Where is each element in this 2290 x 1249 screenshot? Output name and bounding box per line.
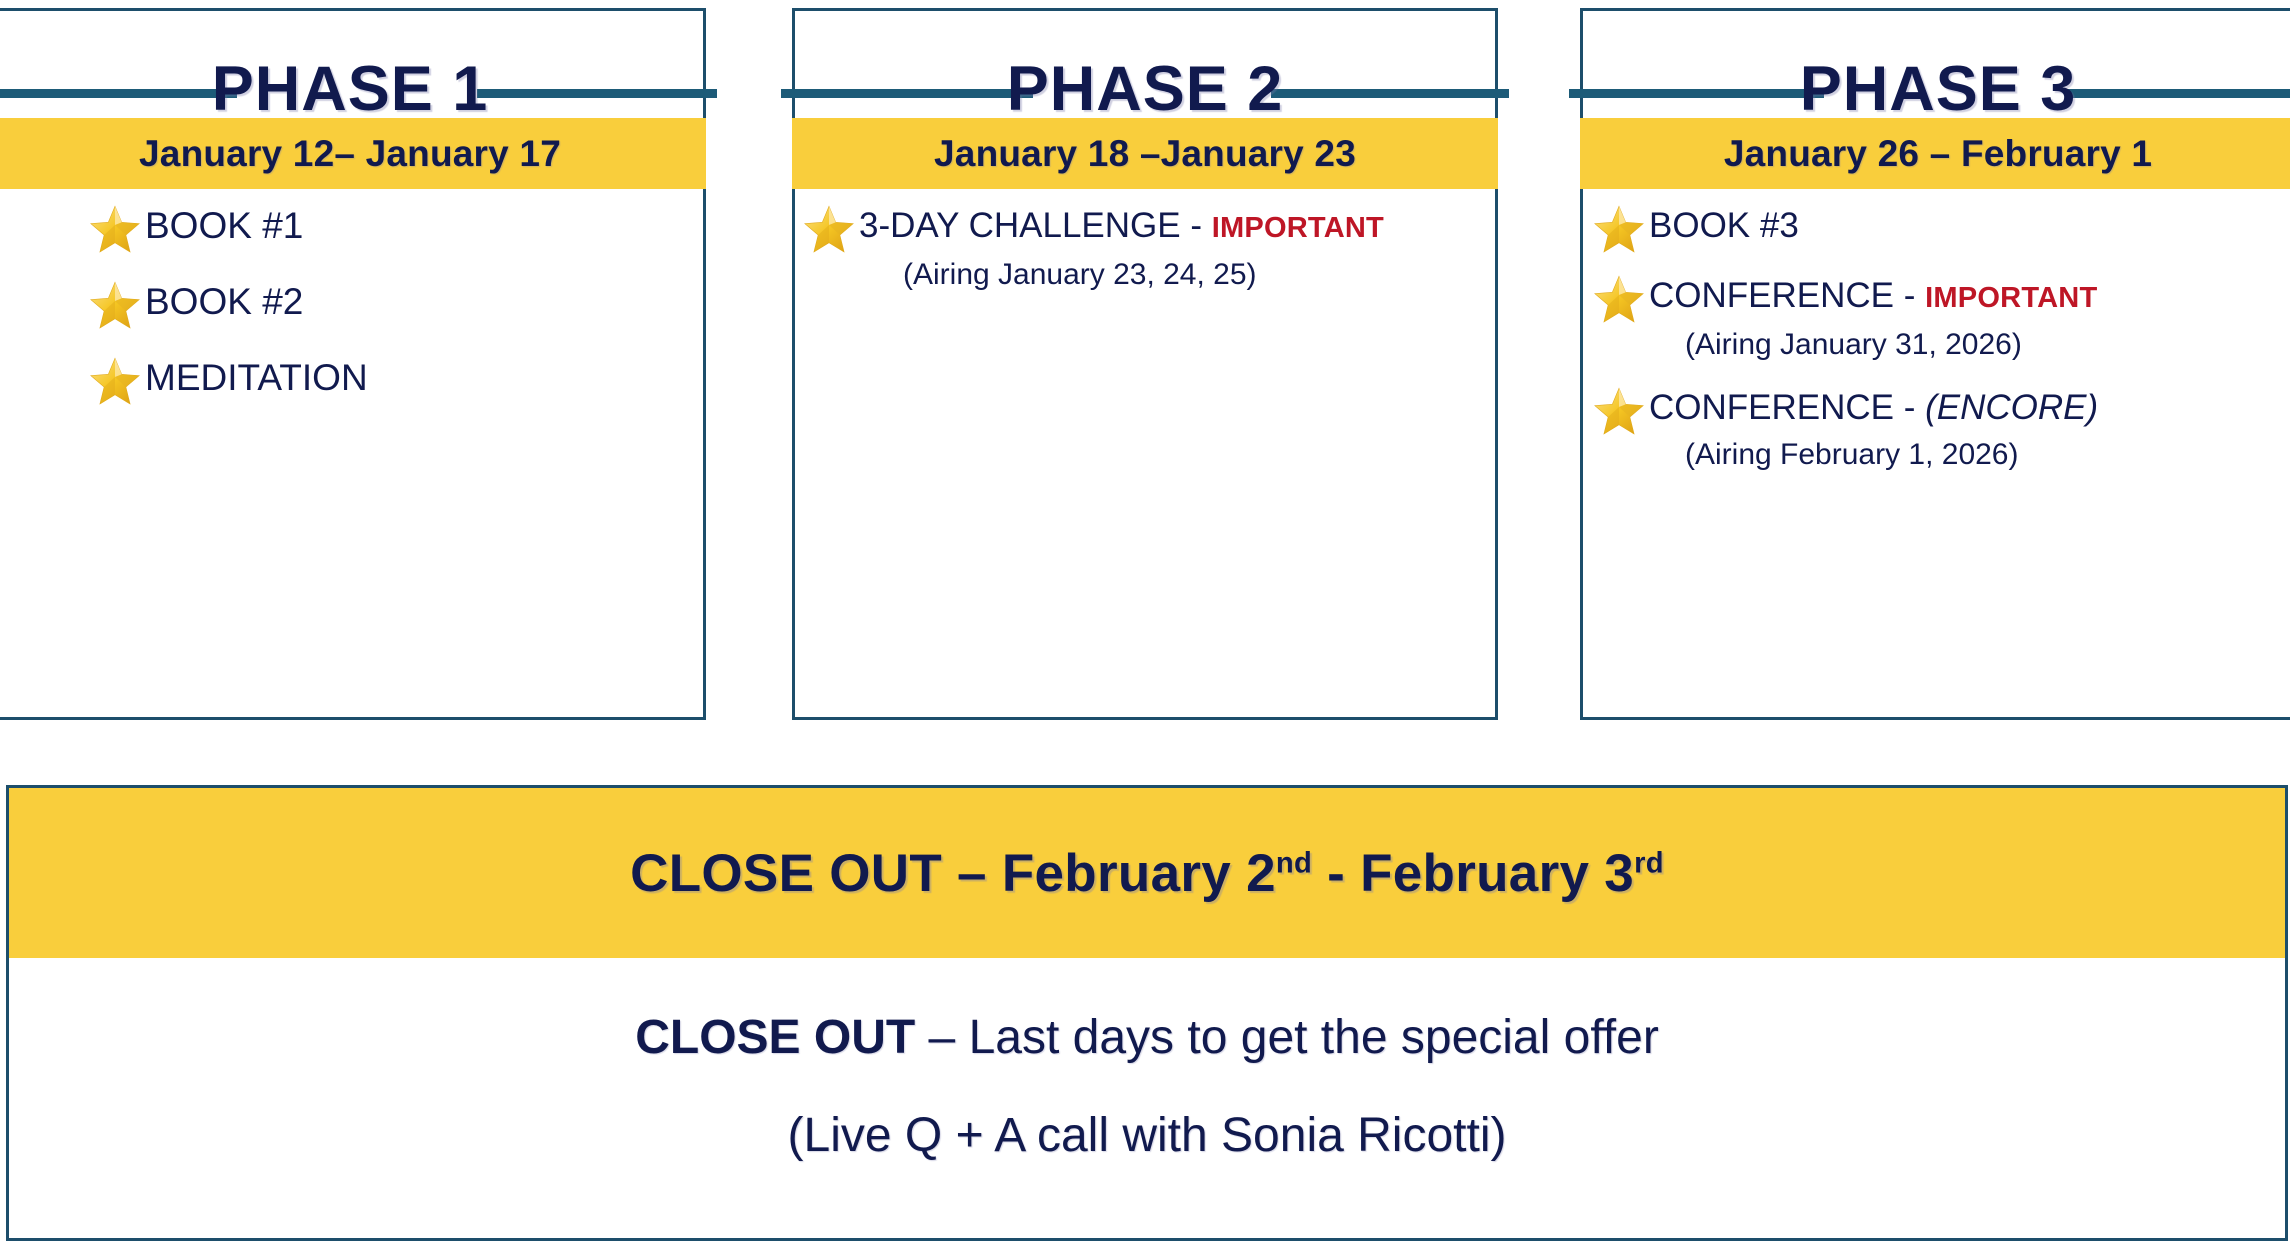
list-item-body: BOOK #1	[145, 201, 703, 251]
closeout-body: CLOSE OUT – Last days to get the special…	[9, 958, 2285, 1238]
list-item-body: CONFERENCE - IMPORTANT (Airing January 3…	[1649, 271, 2290, 367]
list-item-subtitle: (Airing January 31, 2026)	[1649, 323, 2290, 367]
phase-3-date-band: January 26 – February 1	[1580, 118, 2290, 189]
list-item-title: BOOK #2	[145, 277, 703, 327]
list-item-subtitle: (Airing January 23, 24, 25)	[859, 253, 1495, 297]
closeout-line-1: CLOSE OUT – Last days to get the special…	[635, 1000, 1659, 1076]
phase-2-date-range: January 18 –January 23	[934, 133, 1356, 175]
gold-star-icon	[1593, 273, 1645, 325]
encore-label: (ENCORE)	[1925, 388, 2098, 427]
list-item-title: CONFERENCE - (ENCORE)	[1649, 383, 2290, 433]
list-item-body: BOOK #3	[1649, 201, 2290, 251]
list-item: BOOK #2	[89, 277, 703, 331]
list-item: 3-DAY CHALLENGE - IMPORTANT (Airing Janu…	[803, 201, 1495, 297]
closeout-banner-title: CLOSE OUT – February 2nd - February 3rd	[630, 843, 1664, 904]
list-item-title-text: CONFERENCE -	[1649, 388, 1925, 427]
gold-star-icon	[803, 203, 855, 255]
closeout-line-1-bold: CLOSE OUT	[635, 1011, 915, 1064]
closeout-line-2: (Live Q + A call with Sonia Ricotti)	[788, 1098, 1507, 1174]
list-item-title-text: CONFERENCE -	[1649, 276, 1925, 315]
gold-star-icon	[89, 203, 141, 255]
gold-star-icon	[89, 355, 141, 407]
list-item-body: CONFERENCE - (ENCORE) (Airing February 1…	[1649, 383, 2290, 477]
important-badge: IMPORTANT	[1925, 282, 2097, 314]
list-item-title-text: 3-DAY CHALLENGE -	[859, 206, 1212, 245]
list-item-subtitle: (Airing February 1, 2026)	[1649, 433, 2290, 477]
list-item-title: BOOK #3	[1649, 201, 2290, 251]
phase-card-1: PHASE 1 January 12– January 17	[0, 8, 706, 720]
list-item-title: BOOK #1	[145, 201, 703, 251]
list-item-title: MEDITATION	[145, 353, 703, 403]
phase-3-date-range: January 26 – February 1	[1724, 133, 2152, 175]
phase-1-date-band: January 12– January 17	[0, 118, 706, 189]
list-item-title: CONFERENCE - IMPORTANT	[1649, 271, 2290, 323]
closeout-banner-lead: CLOSE OUT – February 2	[630, 844, 1276, 903]
list-item: BOOK #1	[89, 201, 703, 255]
gold-star-icon	[1593, 203, 1645, 255]
list-item: CONFERENCE - IMPORTANT (Airing January 3…	[1593, 271, 2290, 367]
list-item: BOOK #3	[1593, 201, 2290, 255]
phase-card-2: PHASE 2 January 18 –January 23 3-DAY CHA…	[792, 8, 1498, 720]
phase-2-item-list: 3-DAY CHALLENGE - IMPORTANT (Airing Janu…	[795, 201, 1495, 311]
list-item-body: 3-DAY CHALLENGE - IMPORTANT (Airing Janu…	[859, 201, 1495, 297]
list-item-body: BOOK #2	[145, 277, 703, 327]
closeout-line-1-rest: – Last days to get the special offer	[915, 1011, 1659, 1064]
closeout-banner: CLOSE OUT – February 2nd - February 3rd	[9, 788, 2285, 958]
closeout-banner-sup-1: nd	[1276, 847, 1312, 879]
list-item-body: MEDITATION	[145, 353, 703, 403]
phase-3-item-list: BOOK #3 CONFERENCE - IMPORTANT (Airing J…	[1583, 201, 2290, 493]
list-item-title-text: BOOK #3	[1649, 206, 1799, 245]
phase-2-date-band: January 18 –January 23	[792, 118, 1498, 189]
phase-row: PHASE 1 January 12– January 17	[0, 0, 2290, 725]
phase-card-3: PHASE 3 January 26 – February 1 BOOK #3	[1580, 8, 2290, 720]
closeout-banner-mid: - February 3	[1312, 844, 1634, 903]
gold-star-icon	[1593, 385, 1645, 437]
gold-star-icon	[89, 279, 141, 331]
list-item-title: 3-DAY CHALLENGE - IMPORTANT	[859, 201, 1495, 253]
list-item: CONFERENCE - (ENCORE) (Airing February 1…	[1593, 383, 2290, 477]
important-badge: IMPORTANT	[1212, 212, 1384, 244]
closeout-banner-sup-2: rd	[1634, 847, 1664, 879]
list-item: MEDITATION	[89, 353, 703, 407]
closeout-section: CLOSE OUT – February 2nd - February 3rd …	[6, 785, 2288, 1241]
phase-1-item-list: BOOK #1 BOOK #2	[0, 201, 703, 429]
phase-1-date-range: January 12– January 17	[139, 133, 561, 175]
